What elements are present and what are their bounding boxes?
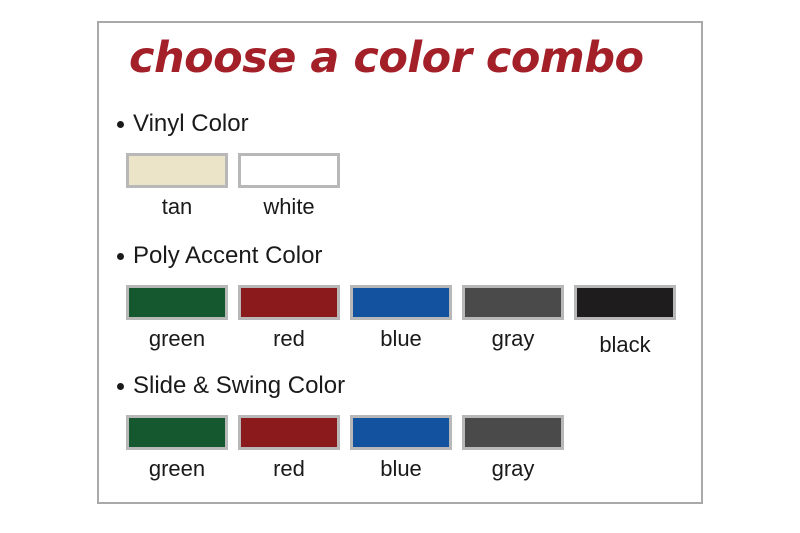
swatch-label-red: red bbox=[238, 457, 340, 481]
swatch-chip-red[interactable] bbox=[238, 285, 340, 320]
swatch-chip-white[interactable] bbox=[238, 153, 340, 188]
swatch-label-black: black bbox=[574, 333, 676, 357]
swatch-option-white[interactable]: white bbox=[238, 153, 340, 219]
section-slide-swing-color: Slide & Swing Color greenredbluegray bbox=[99, 371, 701, 491]
section-heading-slide-swing-color: Slide & Swing Color bbox=[117, 371, 701, 401]
section-heading-label: Vinyl Color bbox=[133, 110, 249, 138]
swatch-chip-tan[interactable] bbox=[126, 153, 228, 188]
swatch-option-blue[interactable]: blue bbox=[350, 415, 452, 481]
swatch-chip-green[interactable] bbox=[126, 285, 228, 320]
swatch-option-gray[interactable]: gray bbox=[462, 415, 564, 481]
swatch-label-gray: gray bbox=[462, 457, 564, 481]
swatch-option-green[interactable]: green bbox=[126, 415, 228, 481]
swatch-option-green[interactable]: green bbox=[126, 285, 228, 351]
bullet-icon bbox=[117, 383, 124, 390]
swatch-option-tan[interactable]: tan bbox=[126, 153, 228, 219]
page-title: choose a color combo bbox=[129, 33, 644, 85]
color-combo-card: choose a color combo Vinyl Color tanwhit… bbox=[97, 21, 703, 504]
swatch-row-vinyl: tanwhite bbox=[126, 153, 701, 229]
swatch-row-poly: greenredbluegrayblack bbox=[126, 285, 701, 361]
swatch-label-tan: tan bbox=[126, 195, 228, 219]
bullet-icon bbox=[117, 121, 124, 128]
section-poly-accent-color: Poly Accent Color greenredbluegrayblack bbox=[99, 241, 701, 361]
swatch-option-red[interactable]: red bbox=[238, 285, 340, 351]
swatch-chip-black[interactable] bbox=[574, 285, 676, 320]
swatch-label-white: white bbox=[238, 195, 340, 219]
bullet-icon bbox=[117, 253, 124, 260]
swatch-option-blue[interactable]: blue bbox=[350, 285, 452, 351]
swatch-label-red: red bbox=[238, 327, 340, 351]
swatch-label-blue: blue bbox=[350, 327, 452, 351]
swatch-chip-green[interactable] bbox=[126, 415, 228, 450]
swatch-option-black[interactable]: black bbox=[574, 285, 676, 357]
swatch-chip-red[interactable] bbox=[238, 415, 340, 450]
swatch-chip-gray[interactable] bbox=[462, 285, 564, 320]
section-heading-label: Slide & Swing Color bbox=[133, 372, 345, 400]
swatch-row-slide: greenredbluegray bbox=[126, 415, 701, 491]
section-heading-label: Poly Accent Color bbox=[133, 242, 322, 270]
swatch-option-red[interactable]: red bbox=[238, 415, 340, 481]
swatch-chip-blue[interactable] bbox=[350, 285, 452, 320]
swatch-chip-gray[interactable] bbox=[462, 415, 564, 450]
swatch-label-green: green bbox=[126, 327, 228, 351]
section-heading-vinyl-color: Vinyl Color bbox=[117, 109, 701, 139]
swatch-label-gray: gray bbox=[462, 327, 564, 351]
section-vinyl-color: Vinyl Color tanwhite bbox=[99, 109, 701, 229]
section-heading-poly-accent-color: Poly Accent Color bbox=[117, 241, 701, 271]
swatch-chip-blue[interactable] bbox=[350, 415, 452, 450]
swatch-label-green: green bbox=[126, 457, 228, 481]
swatch-option-gray[interactable]: gray bbox=[462, 285, 564, 351]
swatch-label-blue: blue bbox=[350, 457, 452, 481]
